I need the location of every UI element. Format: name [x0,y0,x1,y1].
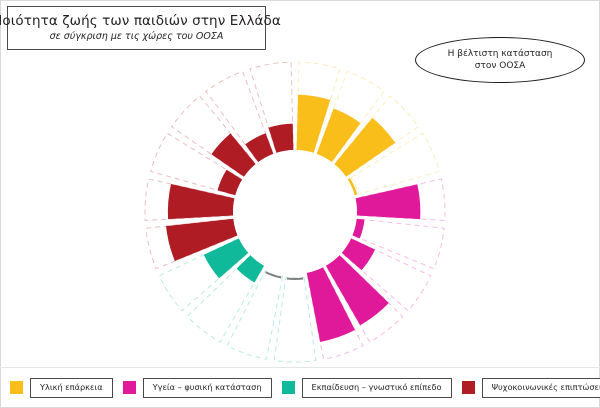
callout-line-1: Η βέλτιστη κατάσταση [448,48,553,60]
legend-swatch-psychosocial [462,381,475,394]
guide-wedge-education-10 [227,271,282,359]
page-subtitle: σε σύγκριση με τις χώρες του ΟΟΣΑ [50,31,224,42]
zero-stub-education-10 [266,272,281,277]
legend-item-material[interactable]: Υλική επάρκεια [10,378,113,397]
legend-swatch-education [282,381,295,394]
legend-item-health[interactable]: Υγεία – φυσική κατάσταση [123,378,272,397]
title-box: Ποιότητα ζωής των παιδιών στην Ελλάδα σε… [7,6,266,50]
bar-psychosocial-16 [211,133,255,176]
callout-line-2: στον ΟΟΣΑ [475,60,526,72]
legend-item-psychosocial[interactable]: Ψυχοκοινωνικές επιπτώσεις [462,378,600,397]
chart-hub [233,150,357,274]
legend-label-material: Υλική επάρκεια [30,378,113,397]
bar-psychosocial-18 [269,124,294,153]
callout-bubble: Η βέλτιστη κατάσταση στον ΟΟΣΑ [415,37,585,83]
page-title: Ποιότητα ζωής των παιδιών στην Ελλάδα [0,14,281,29]
legend-label-health: Υγεία – φυσική κατάσταση [143,378,272,397]
legend-item-education[interactable]: Εκπαίδευση – γνωστικό επίπεδο [282,378,452,397]
legend-label-education: Εκπαίδευση – γνωστικό επίπεδο [302,378,452,397]
chart-legend: Υλική επάρκειαΥγεία – φυσική κατάστασηΕκ… [0,368,600,408]
legend-swatch-material [10,381,23,394]
guide-wedge-education-9 [274,277,316,362]
guide-wedge-health-5 [356,219,444,268]
legend-swatch-health [123,381,136,394]
legend-label-psychosocial: Ψυχοκοινωνικές επιπτώσεις [482,378,600,397]
bar-health-4 [355,184,420,219]
